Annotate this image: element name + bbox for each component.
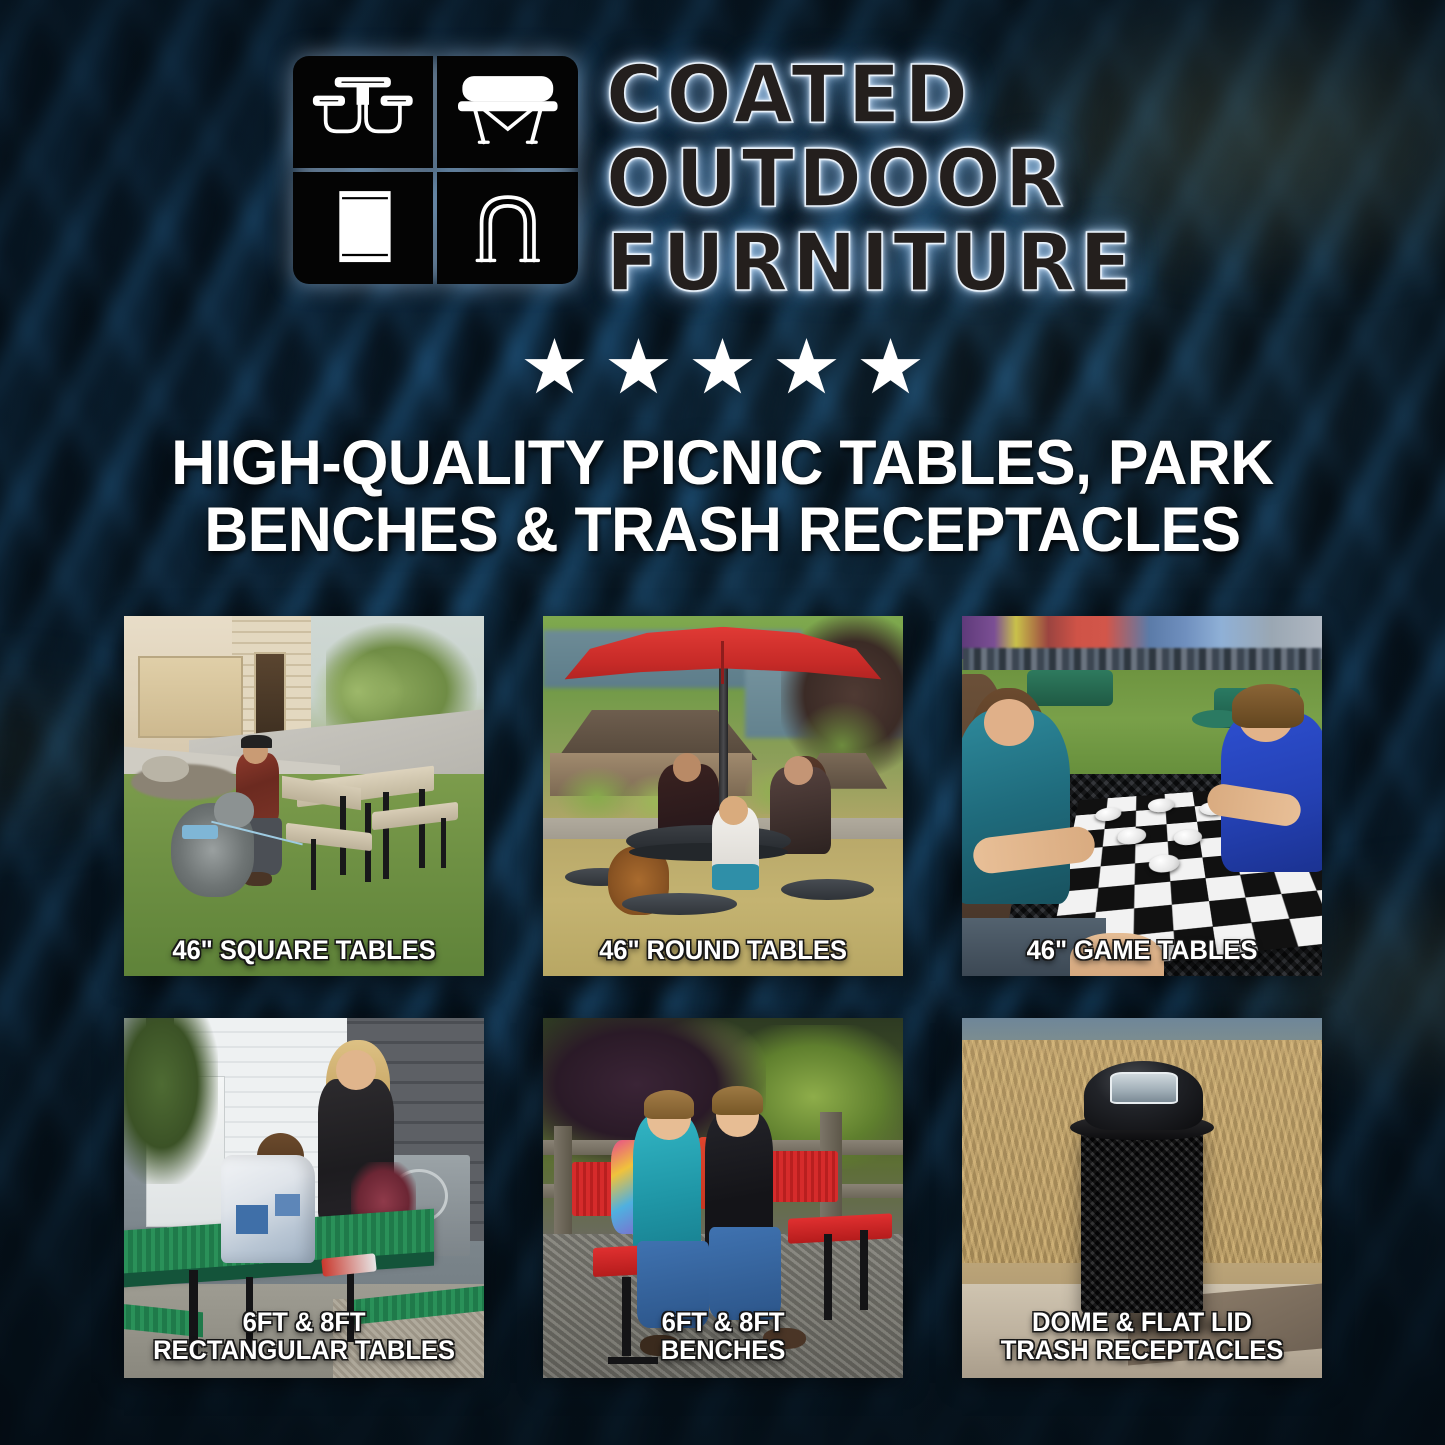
brand-name-line-2: OUTDOOR xyxy=(606,142,1136,218)
picnic-table-front-icon xyxy=(293,56,434,168)
caption-line-1: 6FT & 8FT xyxy=(141,1308,468,1336)
brand-logo[interactable]: COATED OUTDOOR FURNITURE xyxy=(0,56,1445,301)
product-tile-rectangular-tables[interactable]: 6FT & 8FT RECTANGULAR TABLES xyxy=(124,1018,484,1378)
star-icon-2 xyxy=(608,338,670,398)
product-tile-benches[interactable]: 6FT & 8FT BENCHES xyxy=(543,1018,903,1378)
caption-line-1: 46" SQUARE TABLES xyxy=(141,936,468,964)
product-photo-square-tables xyxy=(124,616,484,976)
caption-line-2: BENCHES xyxy=(560,1336,887,1364)
headline-line-1: HIGH-QUALITY PICNIC TABLES, PARK xyxy=(93,430,1352,497)
product-tile-game-tables[interactable]: 46" GAME TABLES xyxy=(962,616,1322,976)
logo-icon-grid xyxy=(293,56,578,284)
star-icon-3 xyxy=(692,338,754,398)
product-tile-square-tables[interactable]: 46" SQUARE TABLES xyxy=(124,616,484,976)
marketing-poster: COATED OUTDOOR FURNITURE HIGH-QUALITY PI… xyxy=(0,0,1445,1445)
page-title: HIGH-QUALITY PICNIC TABLES, PARK BENCHES… xyxy=(25,430,1419,564)
product-caption-rectangular-tables: 6FT & 8FT RECTANGULAR TABLES xyxy=(133,1308,475,1364)
product-caption-benches: 6FT & 8FT BENCHES xyxy=(552,1308,894,1364)
product-caption-game-tables: 46" GAME TABLES xyxy=(971,936,1313,964)
caption-line-1: DOME & FLAT LID xyxy=(979,1308,1306,1336)
product-tile-round-tables[interactable]: 46" ROUND TABLES xyxy=(543,616,903,976)
star-rating xyxy=(0,338,1445,398)
product-caption-square-tables: 46" SQUARE TABLES xyxy=(133,936,475,964)
picnic-table-side-icon xyxy=(437,56,578,168)
product-caption-trash-receptacles: DOME & FLAT LID TRASH RECEPTACLES xyxy=(971,1308,1313,1364)
product-grid: 46" SQUARE TABLES xyxy=(124,616,1322,1378)
brand-name-line-1: COATED xyxy=(606,58,1136,134)
trash-receptacle-icon xyxy=(293,172,434,284)
brand-wordmark: COATED OUTDOOR FURNITURE xyxy=(606,56,1152,301)
headline-line-2: BENCHES & TRASH RECEPTACLES xyxy=(93,497,1352,564)
star-icon-5 xyxy=(860,338,922,398)
caption-line-1: 6FT & 8FT xyxy=(560,1308,887,1336)
brand-name-line-3: FURNITURE xyxy=(606,226,1136,302)
caption-line-2: RECTANGULAR TABLES xyxy=(141,1336,468,1364)
caption-line-2: TRASH RECEPTACLES xyxy=(979,1336,1306,1364)
star-icon-4 xyxy=(776,338,838,398)
caption-line-1: 46" GAME TABLES xyxy=(979,936,1306,964)
product-tile-trash-receptacles[interactable]: DOME & FLAT LID TRASH RECEPTACLES xyxy=(962,1018,1322,1378)
product-photo-game-tables xyxy=(962,616,1322,976)
star-icon-1 xyxy=(524,338,586,398)
product-photo-round-tables xyxy=(543,616,903,976)
product-caption-round-tables: 46" ROUND TABLES xyxy=(552,936,894,964)
caption-line-1: 46" ROUND TABLES xyxy=(560,936,887,964)
bike-rack-arch-icon xyxy=(437,172,578,284)
